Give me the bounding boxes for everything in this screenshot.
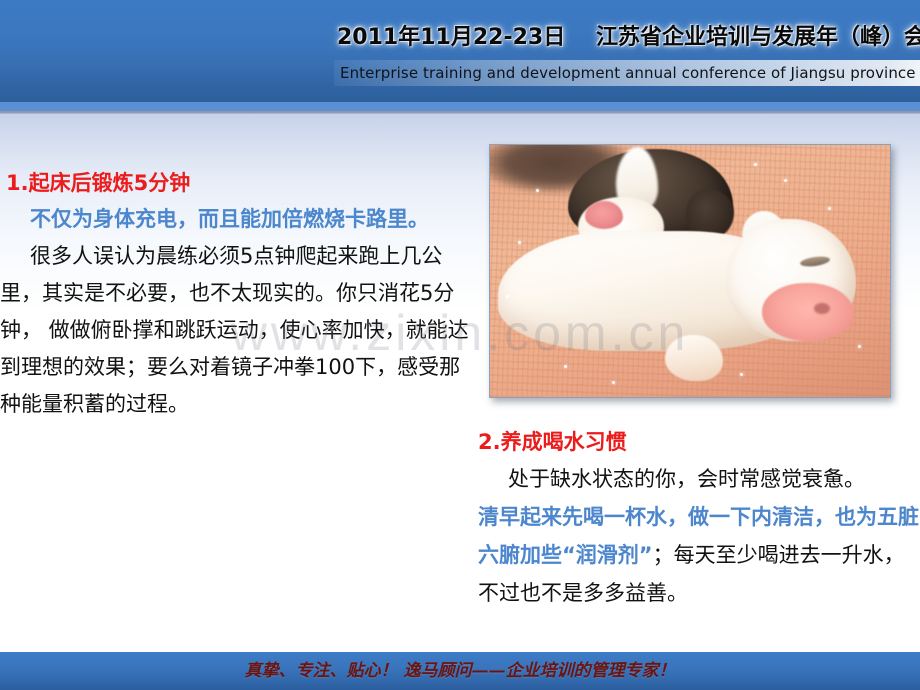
white-puppy-snout xyxy=(762,283,854,341)
blanket-sparkle xyxy=(564,365,567,368)
section-one: 1.起床后锻炼5分钟 不仅为身体充电，而且能加倍燃烧卡路里。 很多人误认为晨练必… xyxy=(0,168,470,423)
section-one-heading: 1.起床后锻炼5分钟 xyxy=(6,168,470,198)
header-accent-stripe xyxy=(0,102,920,111)
section-one-body: 很多人误认为晨练必须5点钟爬起来跑上几公里，其实是不必要，也不太现实的。你只消花… xyxy=(0,238,470,423)
puppies-photo xyxy=(489,144,891,398)
blanket-sparkle xyxy=(518,241,521,244)
puppies-photo-image xyxy=(490,145,890,397)
section-one-highlight: 不仅为身体充电，而且能加倍燃烧卡路里。 xyxy=(0,202,470,236)
section-two-heading: 2.养成喝水习惯 xyxy=(478,428,920,456)
conference-title: 江苏省企业培训与发展年（峰）会 xyxy=(596,23,920,53)
section-two-mixed-paragraph: 清早起来先喝一杯水，做一下内清洁，也为五脏六腑加些“润滑剂”；每天至少喝进去一升… xyxy=(478,498,920,612)
section-two-body-first: 处于缺水状态的你，会时常感觉衰惫。 xyxy=(478,460,920,498)
blanket-sparkle xyxy=(536,189,539,192)
slide-root: 2011年11月22-23日 江苏省企业培训与发展年（峰）会 Enterpris… xyxy=(0,0,920,690)
slide-header-banner: 2011年11月22-23日 江苏省企业培训与发展年（峰）会 Enterpris… xyxy=(0,0,920,113)
header-title-row: 2011年11月22-23日 江苏省企业培训与发展年（峰）会 xyxy=(0,20,920,56)
slide-footer: 真挚、专注、贴心！ 逸马顾问——企业培训的管理专家！ xyxy=(0,652,920,690)
header-subtitle-band: Enterprise training and development annu… xyxy=(334,60,920,86)
footer-slogan: 真挚、专注、贴心！ 逸马顾问——企业培训的管理专家！ xyxy=(0,658,920,684)
section-two: 2.养成喝水习惯 处于缺水状态的你，会时常感觉衰惫。 清早起来先喝一杯水，做一下… xyxy=(478,428,920,612)
blanket-sparkle xyxy=(784,179,787,182)
conference-subtitle-en: Enterprise training and development annu… xyxy=(340,61,916,85)
blanket-sparkle xyxy=(612,381,615,384)
blanket-sparkle xyxy=(828,207,831,210)
white-puppy-paw xyxy=(665,335,723,381)
blanket-sparkle xyxy=(754,163,757,166)
white-puppy-nostril xyxy=(814,303,830,314)
blanket-sparkle xyxy=(506,295,509,298)
dark-puppy-nose xyxy=(585,201,623,229)
blanket-sparkle xyxy=(740,373,743,376)
header-drop-shadow xyxy=(0,111,920,114)
conference-date: 2011年11月22-23日 xyxy=(337,23,565,53)
blanket-sparkle xyxy=(858,345,861,348)
